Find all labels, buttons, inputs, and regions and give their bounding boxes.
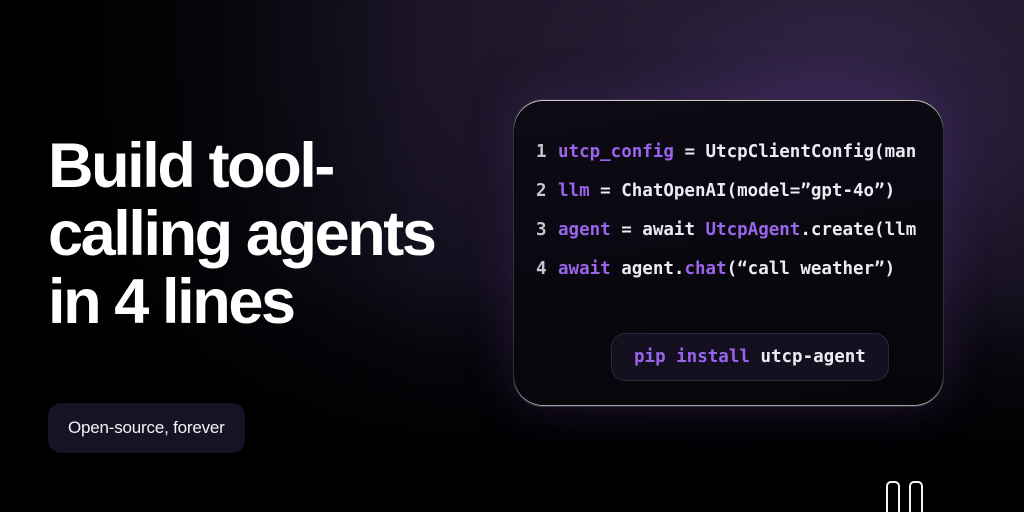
code-token-plain: (“call weather”) bbox=[727, 259, 896, 279]
code-line: 1utcp_config = UtcpClientConfig(man bbox=[536, 142, 943, 181]
brand-logo bbox=[886, 481, 928, 512]
code-line-number: 1 bbox=[536, 142, 558, 162]
code-card-inner: 1utcp_config = UtcpClientConfig(man2llm … bbox=[514, 100, 943, 406]
logo-bar-right bbox=[909, 481, 923, 512]
code-line-number: 2 bbox=[536, 181, 558, 201]
code-token-plain: agent. bbox=[611, 259, 685, 279]
code-token-keyword: agent bbox=[558, 220, 611, 240]
code-token-keyword: UtcpAgent bbox=[706, 220, 801, 240]
code-line-text: await agent.chat(“call weather”) bbox=[558, 259, 895, 279]
code-token-keyword: llm bbox=[558, 181, 590, 201]
code-card: 1utcp_config = UtcpClientConfig(man2llm … bbox=[513, 99, 944, 407]
install-package-name: utcp-agent bbox=[760, 347, 865, 367]
install-command-text: pip install bbox=[634, 347, 750, 367]
code-token-plain: = ChatOpenAI(model=”gpt-4o”) bbox=[590, 181, 896, 201]
install-command-chip[interactable]: pip install utcp-agent bbox=[611, 333, 889, 381]
status-badge: Open-source, forever bbox=[48, 403, 245, 453]
code-line: 4await agent.chat(“call weather”) bbox=[536, 259, 943, 298]
code-token-keyword: await bbox=[558, 259, 611, 279]
code-line: 3agent = await UtcpAgent.create(llm bbox=[536, 220, 943, 259]
code-line-text: utcp_config = UtcpClientConfig(man bbox=[558, 142, 916, 162]
code-block: 1utcp_config = UtcpClientConfig(man2llm … bbox=[536, 142, 943, 298]
code-token-keyword: utcp_config bbox=[558, 142, 674, 162]
code-line: 2llm = ChatOpenAI(model=”gpt-4o”) bbox=[536, 181, 943, 220]
code-token-keyword: chat bbox=[684, 259, 726, 279]
status-badge-label: Open-source, forever bbox=[68, 418, 225, 438]
code-line-text: llm = ChatOpenAI(model=”gpt-4o”) bbox=[558, 181, 895, 201]
install-command-space bbox=[750, 347, 761, 367]
hero-banner: Build tool- calling agents in 4 lines Op… bbox=[0, 0, 1024, 512]
page-title: Build tool- calling agents in 4 lines bbox=[48, 132, 518, 336]
code-token-plain: = await bbox=[611, 220, 706, 240]
logo-bar-left bbox=[886, 481, 900, 512]
code-line-text: agent = await UtcpAgent.create(llm bbox=[558, 220, 916, 240]
code-line-number: 4 bbox=[536, 259, 558, 279]
code-line-number: 3 bbox=[536, 220, 558, 240]
code-token-plain: .create(llm bbox=[800, 220, 916, 240]
code-token-plain: = UtcpClientConfig(man bbox=[674, 142, 916, 162]
